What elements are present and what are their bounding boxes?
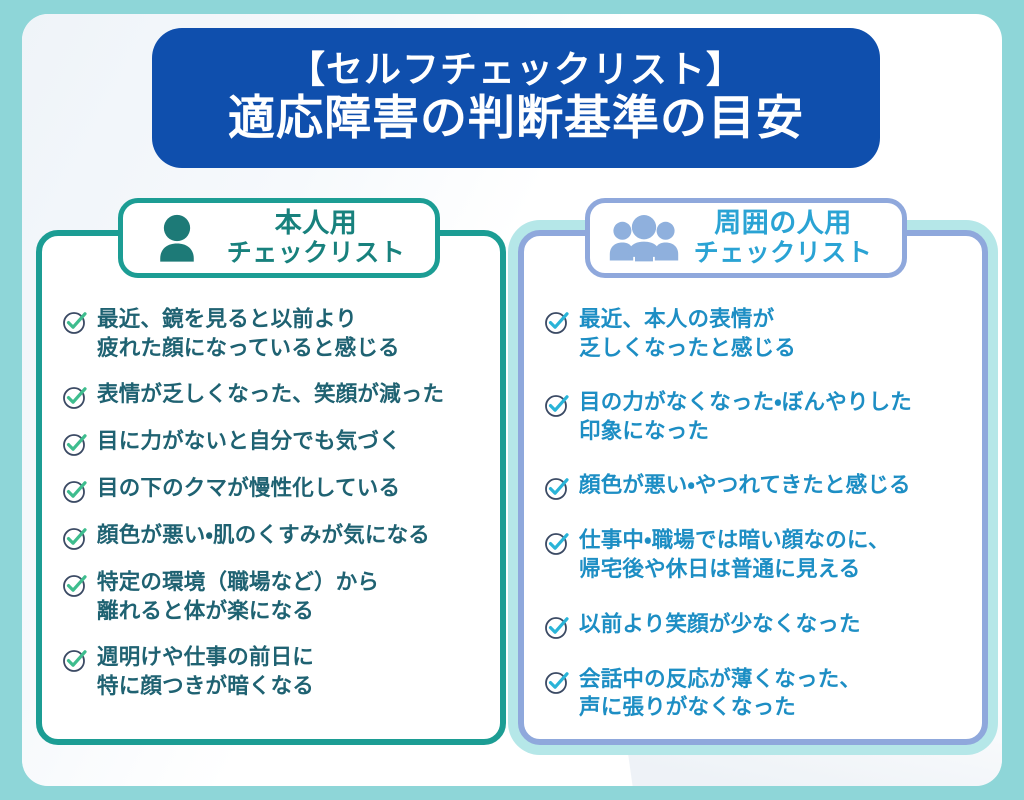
list-item[interactable]: 週明けや仕事の前日に 特に顔つきが暗くなる <box>62 644 486 701</box>
badge-self-subtitle: チェックリスト <box>227 240 406 266</box>
check-circle-icon <box>62 647 88 673</box>
list-item[interactable]: 顔色が悪い・肌のくすみが気になる <box>62 522 486 551</box>
list-item[interactable]: 会話中の反応が薄くなった、 声に張りがなくなった <box>544 666 970 723</box>
list-item-text: 目に力がないと自分でも気づく <box>97 428 401 457</box>
list-item-text: 目の下のクマが慢性化している <box>97 475 400 504</box>
list-item[interactable]: 仕事中・職場では暗い顔なのに、 帰宅後や休日は普通に見える <box>544 527 970 584</box>
check-circle-icon <box>544 309 570 335</box>
list-item-text: 最近、鏡を見ると以前より 疲れた顔になっていると感じる <box>97 306 400 363</box>
check-circle-icon <box>62 525 88 551</box>
badge-others-subtitle: チェックリスト <box>694 240 873 266</box>
badge-self-title: 本人用 <box>275 210 358 238</box>
badge-others-checklist: 周囲の人用 チェックリスト <box>585 198 907 278</box>
badge-self-text: 本人用 チェックリスト <box>215 210 417 267</box>
check-circle-icon <box>544 475 570 501</box>
page-title-line1: 【セルフチェックリスト】 <box>288 50 744 90</box>
page-title-line2: 適応障害の判断基準の目安 <box>228 93 804 146</box>
list-item[interactable]: 目に力がないと自分でも気づく <box>62 428 486 457</box>
group-people-icon <box>606 207 682 269</box>
check-circle-icon <box>62 478 88 504</box>
list-item-text: 顔色が悪い・やつれてきたと感じる <box>579 472 911 501</box>
list-item-text: 目の力がなくなった・ぼんやりした 印象になった <box>579 389 912 446</box>
list-item-text: 顔色が悪い・肌のくすみが気になる <box>97 522 430 551</box>
check-circle-icon <box>544 530 570 556</box>
list-item-text: 特定の環境（職場など）から 離れると体が楽になる <box>97 569 379 626</box>
check-circle-icon <box>544 614 570 640</box>
checklist-others: 最近、本人の表情が 乏しくなったと感じる 目の力がなくなった・ぼんやりした 印象… <box>544 306 970 723</box>
check-circle-icon <box>62 572 88 598</box>
badge-others-title: 周囲の人用 <box>714 210 852 238</box>
list-item[interactable]: 目の下のクマが慢性化している <box>62 475 486 504</box>
badge-others-text: 周囲の人用 チェックリスト <box>682 210 884 267</box>
list-item-text: 最近、本人の表情が 乏しくなったと感じる <box>579 306 796 363</box>
list-item[interactable]: 目の力がなくなった・ぼんやりした 印象になった <box>544 389 970 446</box>
list-item-text: 仕事中・職場では暗い顔なのに、 帰宅後や休日は普通に見える <box>579 527 890 584</box>
list-item[interactable]: 特定の環境（職場など）から 離れると体が楽になる <box>62 569 486 626</box>
single-person-icon <box>139 207 215 269</box>
list-item[interactable]: 以前より笑顔が少なくなった <box>544 611 970 640</box>
check-circle-icon <box>544 669 570 695</box>
list-item[interactable]: 表情が乏しくなった、笑顔が減った <box>62 381 486 410</box>
list-item-text: 以前より笑顔が少なくなった <box>579 611 861 640</box>
page-title-bar: 【セルフチェックリスト】 適応障害の判断基準の目安 <box>152 28 880 168</box>
list-item[interactable]: 顔色が悪い・やつれてきたと感じる <box>544 472 970 501</box>
check-circle-icon <box>62 309 88 335</box>
badge-self-checklist: 本人用 チェックリスト <box>118 198 440 278</box>
list-item[interactable]: 最近、鏡を見ると以前より 疲れた顔になっていると感じる <box>62 306 486 363</box>
infographic-root: 【セルフチェックリスト】 適応障害の判断基準の目安 本人用 チェックリスト <box>0 0 1024 800</box>
checklist-self: 最近、鏡を見ると以前より 疲れた顔になっていると感じる 表情が乏しくなった、笑顔… <box>62 306 486 702</box>
check-circle-icon <box>544 392 570 418</box>
list-item[interactable]: 最近、本人の表情が 乏しくなったと感じる <box>544 306 970 363</box>
list-item-text: 週明けや仕事の前日に 特に顔つきが暗くなる <box>97 644 314 701</box>
check-circle-icon <box>62 384 88 410</box>
check-circle-icon <box>62 431 88 457</box>
list-item-text: 表情が乏しくなった、笑顔が減った <box>97 381 444 410</box>
list-item-text: 会話中の反応が薄くなった、 声に張りがなくなった <box>579 666 861 723</box>
